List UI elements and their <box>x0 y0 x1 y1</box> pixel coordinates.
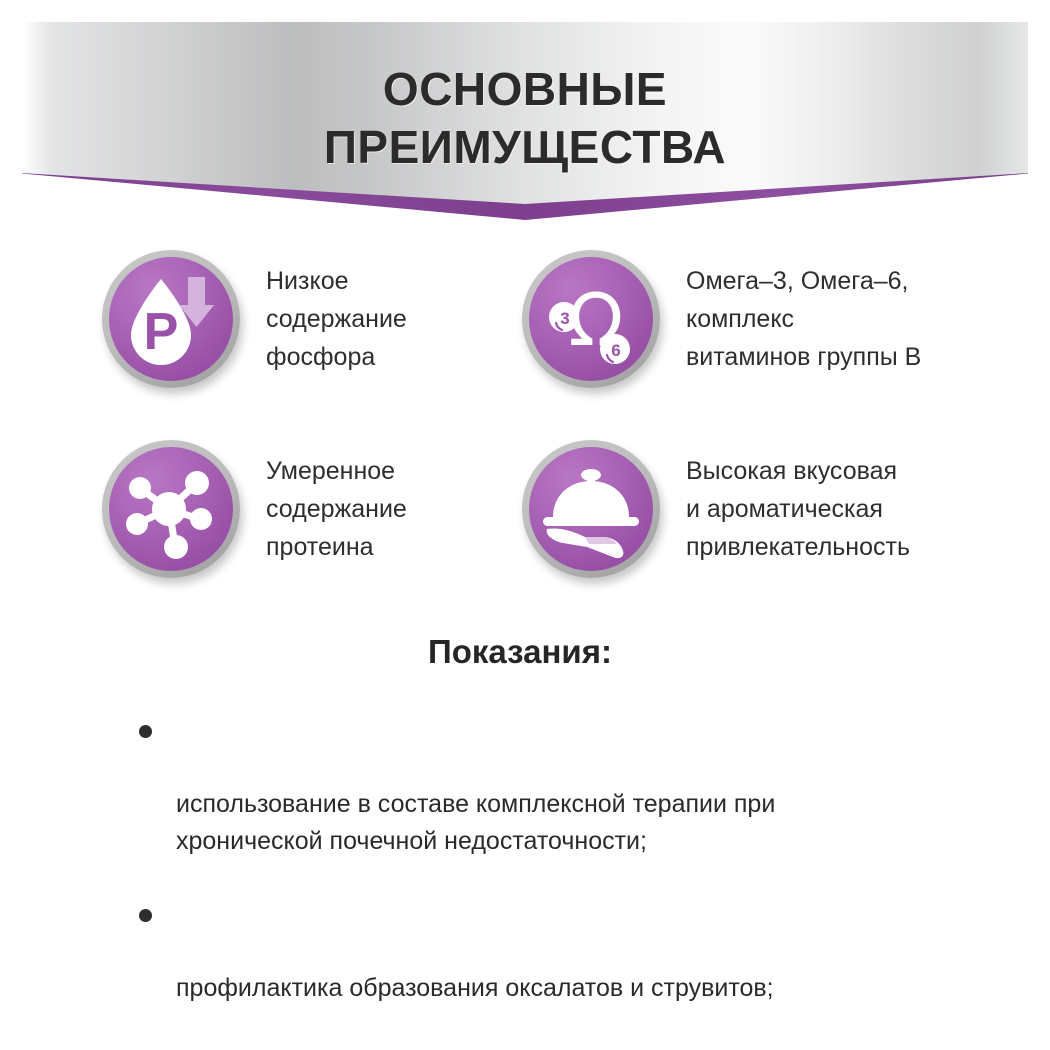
banner-silver-plate: ОСНОВНЫЕ ПРЕИМУЩЕСТВА <box>22 22 1028 204</box>
cloche-tray-hand-icon <box>529 447 653 571</box>
list-item-text: использование в составе комплексной тера… <box>176 790 775 855</box>
list-item: использование в составе комплексной тера… <box>131 712 990 860</box>
molecule-icon <box>109 447 233 571</box>
svg-text:P: P <box>144 303 179 361</box>
indications-section: Показания: использование в составе компл… <box>0 630 1050 1050</box>
indications-heading: Показания: <box>0 630 1050 674</box>
feature-label: Низкое содержание фосфора <box>266 262 407 376</box>
feature-label: Омега–3, Омега–6, комплекс витаминов гру… <box>686 262 921 376</box>
feature-badge: P <box>102 250 240 388</box>
slide-root: ОСНОВНЫЕ ПРЕИМУЩЕСТВА P Низкое со <box>0 0 1050 1050</box>
header-banner: ОСНОВНЫЕ ПРЕИМУЩЕСТВА <box>0 0 1050 235</box>
bullet-icon <box>139 909 152 922</box>
list-item: профилактика метаболического ацидоза и п… <box>131 1043 990 1050</box>
page-title: ОСНОВНЫЕ ПРЕИМУЩЕСТВА <box>22 60 1028 176</box>
list-item: профилактика образования оксалатов и стр… <box>131 896 990 1007</box>
omega-icon: Ω 3 6 <box>529 257 653 381</box>
indications-list: использование в составе комплексной тера… <box>0 712 1050 1050</box>
feature-item-palatability: Высокая вкусовая и ароматическая привлек… <box>522 440 992 578</box>
svg-text:3: 3 <box>560 309 569 328</box>
bullet-icon <box>139 725 152 738</box>
feature-badge <box>102 440 240 578</box>
feature-badge <box>522 440 660 578</box>
feature-grid: P Низкое содержание фосфора Ω <box>0 250 1050 610</box>
feature-label: Умеренное содержание протеина <box>266 452 407 566</box>
list-item-text: профилактика образования оксалатов и стр… <box>176 974 774 1002</box>
feature-item-phosphorus: P Низкое содержание фосфора <box>102 250 502 388</box>
svg-text:6: 6 <box>611 341 620 360</box>
feature-item-omega: Ω 3 6 Омега–3, Омега–6, ком <box>522 250 992 388</box>
feature-badge: Ω 3 6 <box>522 250 660 388</box>
feature-label: Высокая вкусовая и ароматическая привлек… <box>686 452 910 566</box>
feature-item-protein: Умеренное содержание протеина <box>102 440 502 578</box>
phosphorus-droplet-down-arrow-icon: P <box>109 257 233 381</box>
